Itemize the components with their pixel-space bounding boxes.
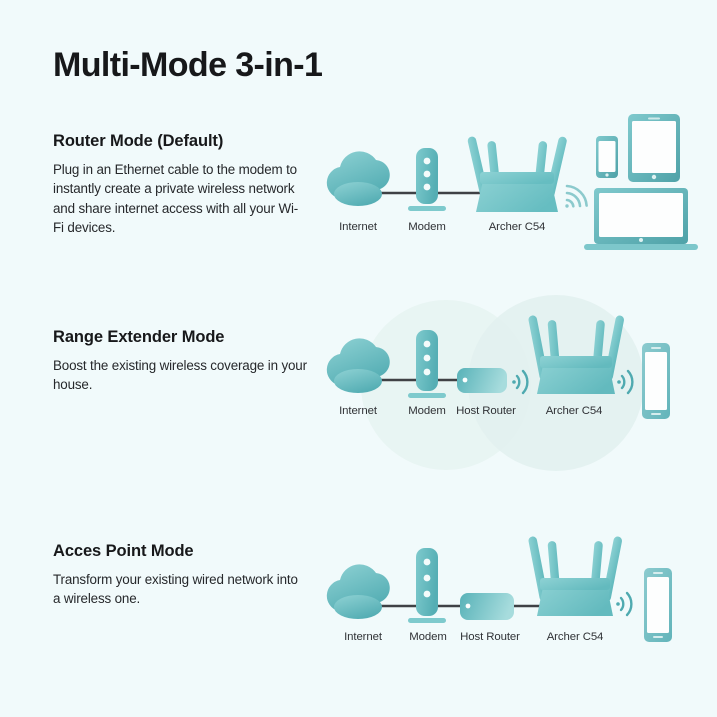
cloud-icon (327, 564, 390, 619)
node-label-archer: Archer C54 (489, 221, 546, 233)
modem-icon (408, 548, 446, 623)
mode-text-block: Router Mode (Default) Plug in an Etherne… (53, 132, 308, 238)
phone-icon (644, 568, 672, 642)
node-label-internet: Internet (339, 405, 378, 417)
cloud-icon (327, 151, 390, 206)
node-label-internet: Internet (344, 631, 383, 643)
router-icon (528, 536, 623, 616)
diagram-access-point-mode: Internet Modem Host Router Archer C54 (318, 528, 698, 668)
host-router-icon (457, 368, 507, 393)
modem-icon (408, 148, 446, 211)
laptop-icon (584, 188, 698, 250)
mode-description-access-point: Transform your existing wired network in… (53, 570, 308, 609)
mode-heading-router: Router Mode (Default) (53, 132, 308, 152)
mode-description-range-extender: Boost the existing wireless coverage in … (53, 356, 308, 395)
node-label-modem: Modem (409, 631, 446, 643)
router-icon (467, 136, 568, 212)
mode-section-access-point: Acces Point Mode Transform your existing… (0, 528, 717, 668)
node-label-archer: Archer C54 (547, 631, 604, 643)
diagram-range-extender-mode: Internet Modem Host Router Archer C54 (318, 280, 698, 490)
mode-heading-access-point: Acces Point Mode (53, 542, 308, 562)
wifi-signal-icon (565, 186, 586, 208)
node-label-archer: Archer C54 (546, 405, 603, 417)
mode-section-router: Router Mode (Default) Plug in an Etherne… (0, 128, 717, 268)
page-title: Multi-Mode 3-in-1 (53, 46, 322, 84)
tablet-icon (628, 114, 680, 182)
diagram-router-mode: Internet Modem Archer C54 (318, 108, 698, 258)
node-label-modem: Modem (408, 221, 445, 233)
phone-icon (596, 136, 618, 178)
host-router-icon (460, 593, 514, 620)
mode-section-range-extender: Range Extender Mode Boost the existing w… (0, 288, 717, 488)
mode-text-block: Acces Point Mode Transform your existing… (53, 542, 308, 609)
mode-heading-range-extender: Range Extender Mode (53, 328, 308, 348)
node-label-host-router: Host Router (460, 631, 520, 643)
node-label-modem: Modem (408, 405, 445, 417)
phone-icon (642, 343, 670, 419)
node-label-internet: Internet (339, 221, 378, 233)
mode-text-block: Range Extender Mode Boost the existing w… (53, 328, 308, 395)
node-label-host-router: Host Router (456, 405, 516, 417)
wifi-signal-icon (616, 593, 631, 615)
mode-description-router: Plug in an Ethernet cable to the modem t… (53, 160, 308, 238)
